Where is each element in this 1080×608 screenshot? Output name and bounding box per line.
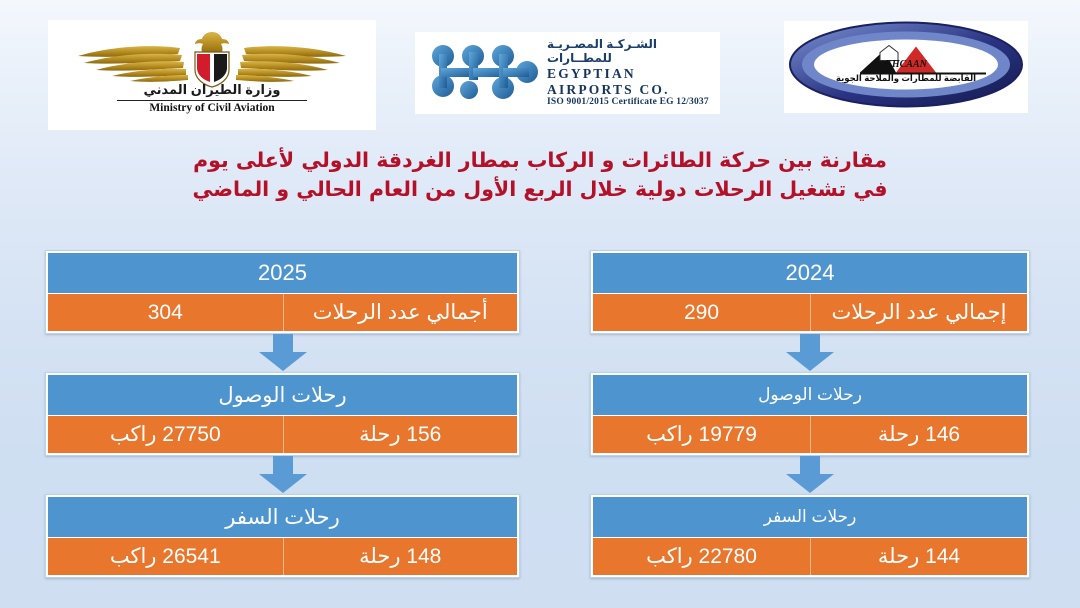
card-total-2024: 2024 إجمالي عدد الرحلات 290 <box>590 250 1030 334</box>
card-departures-2024: رحلات السفر 144 رحلة 22780 راكب <box>590 494 1030 578</box>
arrivals-flights-2024: 146 رحلة <box>810 416 1027 453</box>
departures-flights-2024: 144 رحلة <box>810 538 1027 575</box>
card-arrivals-2025: رحلات الوصول 156 رحلة 27750 راكب <box>45 372 520 456</box>
logo-egyptian-airports-company: الشـركـة المصـريـة للمطــارات EGYPTIAN A… <box>415 32 720 114</box>
total-flights-value-2024: 290 <box>593 294 810 331</box>
departures-heading-2024: رحلات السفر <box>593 497 1027 537</box>
departures-passengers-2024: 22780 راكب <box>593 538 810 575</box>
departures-passengers-2025: 26541 راكب <box>48 538 283 575</box>
arrivals-passengers-2024: 19779 راكب <box>593 416 810 453</box>
logo-eac-english: EGYPTIAN AIRPORTS CO. <box>547 66 720 98</box>
card-arrivals-2024: رحلات الوصول 146 رحلة 19779 راكب <box>590 372 1030 456</box>
down-arrow-icon <box>255 334 311 377</box>
arrivals-row-2024: 146 رحلة 19779 راكب <box>593 415 1027 453</box>
logos-row: وزارة الطيران المدني Ministry of Civil A… <box>0 0 1080 135</box>
slide-canvas: وزارة الطيران المدني Ministry of Civil A… <box>0 0 1080 608</box>
panel-year-2024: 2024 إجمالي عدد الرحلات 290 رحلات الوصول… <box>590 250 1030 570</box>
logo-eac-iso: ISO 9001/2015 Certificate EG 12/3037 <box>547 97 720 108</box>
down-arrow-icon <box>782 456 838 499</box>
down-arrow-icon <box>782 334 838 377</box>
down-arrow-icon <box>255 456 311 499</box>
arrow-gap-2-2025 <box>45 456 520 494</box>
departures-heading-2025: رحلات السفر <box>48 497 517 537</box>
slide-title: مقارنة بين حركة الطائرات و الركاب بمطار … <box>190 146 890 204</box>
total-flights-label-2025: أجمالي عدد الرحلات <box>283 294 518 331</box>
arrivals-heading-2024: رحلات الوصول <box>593 375 1027 415</box>
arrow-gap-2-2024 <box>590 456 1030 494</box>
departures-flights-2025: 148 رحلة <box>283 538 518 575</box>
logo-eac-arabic: الشـركـة المصـريـة للمطــارات <box>547 37 720 65</box>
total-row-2024: إجمالي عدد الرحلات 290 <box>593 293 1027 331</box>
arrow-gap-1-2024 <box>590 334 1030 372</box>
logo-ministry-of-civil-aviation: وزارة الطيران المدني Ministry of Civil A… <box>48 20 376 130</box>
panel-year-2025: 2025 أجمالي عدد الرحلات 304 رحلات الوصول… <box>45 250 520 570</box>
total-row-2025: أجمالي عدد الرحلات 304 <box>48 293 517 331</box>
arrivals-heading-2025: رحلات الوصول <box>48 375 517 415</box>
total-flights-label-2024: إجمالي عدد الرحلات <box>810 294 1027 331</box>
year-label-2025: 2025 <box>48 253 517 293</box>
logo-mca-english: Ministry of Civil Aviation <box>117 100 307 114</box>
title-line-2: الرحلات دولية خلال الربع الأول من العام … <box>192 177 772 201</box>
arrivals-row-2025: 156 رحلة 27750 راكب <box>48 415 517 453</box>
year-label-2024: 2024 <box>593 253 1027 293</box>
ehcaan-ellipse-icon <box>788 21 1024 113</box>
eac-molecule-icon <box>429 42 541 105</box>
card-total-2025: 2025 أجمالي عدد الرحلات 304 <box>45 250 520 334</box>
card-departures-2025: رحلات السفر 148 رحلة 26541 راكب <box>45 494 520 578</box>
logo-ehcaan: EHCAAN القابضة للمطارات والملاحة الجوية <box>784 21 1028 113</box>
arrivals-passengers-2025: 27750 راكب <box>48 416 283 453</box>
logo-mca-arabic: وزارة الطيران المدني <box>48 82 376 98</box>
departures-row-2025: 148 رحلة 26541 راكب <box>48 537 517 575</box>
arrivals-flights-2025: 156 رحلة <box>283 416 518 453</box>
departures-row-2024: 144 رحلة 22780 راكب <box>593 537 1027 575</box>
arrow-gap-1-2025 <box>45 334 520 372</box>
total-flights-value-2025: 304 <box>48 294 283 331</box>
